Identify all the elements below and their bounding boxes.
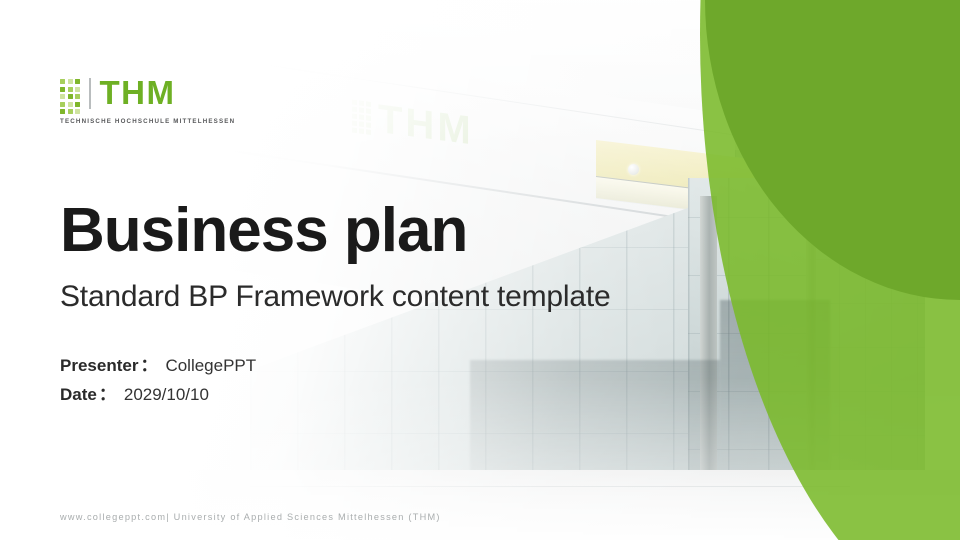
- logo-wordmark: THM: [100, 76, 176, 109]
- logo-wordmark-block: THM: [100, 76, 176, 109]
- date-value: 2029/10/10: [118, 384, 209, 406]
- presenter-meta-block: Presenter ： CollegePPT Date ： 2029/10/10: [60, 355, 256, 413]
- date-row: Date ： 2029/10/10: [60, 384, 256, 406]
- title-slide: THM THM TECHNISCHE HOCHSCHULE MITTELHESS…: [0, 0, 960, 540]
- slide-subtitle: Standard BP Framework content template: [60, 278, 610, 316]
- footer-credit: www.collegeppt.com| University of Applie…: [60, 511, 441, 523]
- presenter-colon: ：: [138, 355, 159, 377]
- logo-tagline-wrap: TECHNISCHE HOCHSCHULE MITTELHESSEN: [60, 113, 235, 126]
- presenter-row: Presenter ： CollegePPT: [60, 355, 256, 377]
- logo-tagline: TECHNISCHE HOCHSCHULE MITTELHESSEN: [60, 118, 235, 126]
- thm-logo: THM: [60, 76, 175, 114]
- date-label: Date: [60, 384, 97, 406]
- slide-title: Business plan: [60, 196, 467, 266]
- logo-divider: [89, 78, 91, 109]
- presenter-label: Presenter: [60, 355, 138, 377]
- thm-grid-icon: [60, 79, 80, 114]
- date-colon: ：: [97, 384, 118, 406]
- presenter-value: CollegePPT: [159, 355, 256, 377]
